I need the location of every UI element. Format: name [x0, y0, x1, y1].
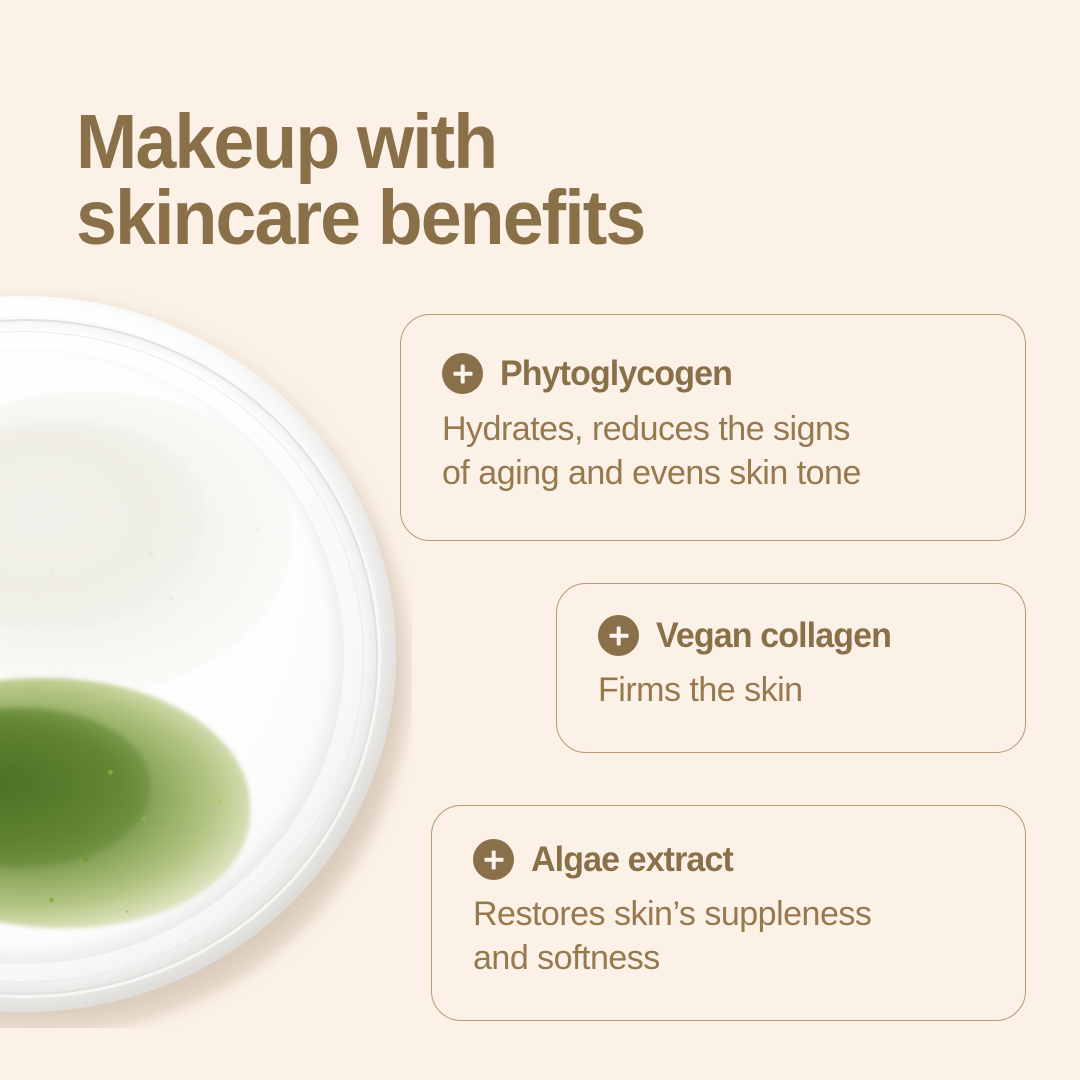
benefit-title: Vegan collagen: [656, 618, 891, 653]
benefit-description: Hydrates, reduces the signs of aging and…: [442, 407, 1025, 495]
white-powder-specks: [0, 484, 290, 634]
product-ingredient-photo: [0, 288, 412, 1028]
benefit-title: Phytoglycogen: [500, 356, 732, 391]
benefit-description: Restores skin’s suppleness and softness: [473, 892, 1025, 980]
benefit-card-header: Phytoglycogen: [442, 353, 1025, 394]
benefit-description: Firms the skin: [598, 668, 1025, 712]
benefit-card-vegan-collagen[interactable]: Vegan collagen Firms the skin: [556, 583, 1026, 753]
plus-icon: [598, 615, 639, 656]
benefit-title: Algae extract: [531, 842, 733, 877]
benefit-card-header: Algae extract: [473, 839, 1025, 880]
plus-icon: [442, 353, 483, 394]
plus-icon: [473, 839, 514, 880]
benefit-card-algae-extract[interactable]: Algae extract Restores skin’s suppleness…: [431, 805, 1026, 1021]
benefit-card-header: Vegan collagen: [598, 615, 1025, 656]
green-powder-specks: [0, 668, 270, 958]
benefit-card-phytoglycogen[interactable]: Phytoglycogen Hydrates, reduces the sign…: [400, 314, 1026, 541]
page-title: Makeup with skincare benefits: [76, 104, 878, 256]
promo-canvas: Makeup with skincare benefits Phytoglyco…: [0, 0, 1080, 1080]
